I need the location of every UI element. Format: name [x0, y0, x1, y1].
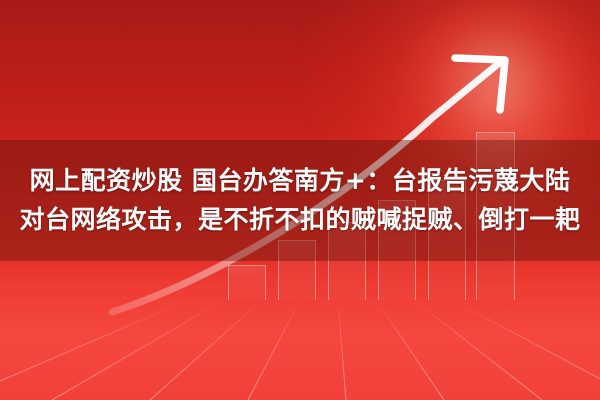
floor-grid-svg: [0, 300, 600, 400]
floor-brightness-wash: [0, 258, 600, 400]
perspective-floor-grid: [0, 300, 600, 400]
caption-line-1: 网上配资炒股 国台办答南方+：台报告污蔑大陆: [30, 163, 571, 199]
chart-bar: [228, 265, 266, 300]
caption-line-2: 对台网络攻击，是不折不扣的贼喊捉贼、倒打一耙: [19, 202, 580, 238]
caption-block: 网上配资炒股 国台办答南方+：台报告污蔑大陆 对台网络攻击，是不折不扣的贼喊捉贼…: [0, 140, 600, 261]
banner-image: 网上配资炒股 国台办答南方+：台报告污蔑大陆 对台网络攻击，是不折不扣的贼喊捉贼…: [0, 0, 600, 400]
arrow-head: [455, 58, 505, 110]
